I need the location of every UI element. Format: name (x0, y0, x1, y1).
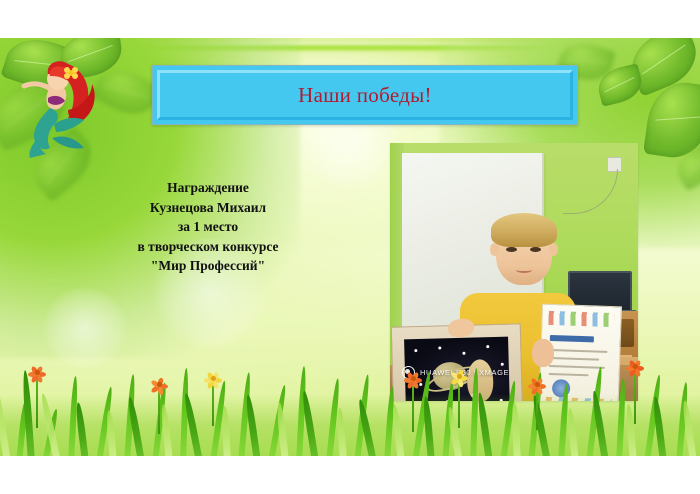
photo-boy-ear (549, 243, 558, 256)
photo-boy-hair (491, 213, 557, 247)
mermaid-character-icon (8, 46, 104, 158)
title-banner-inner: Наши победы! (157, 70, 573, 120)
caption-line: Награждение (108, 178, 308, 198)
page-title: Наши победы! (298, 83, 432, 108)
caption-line: в творческом конкурсе (108, 237, 308, 257)
photo-boy-ear (490, 243, 499, 256)
grass-border (0, 326, 700, 456)
title-banner: Наши победы! (152, 65, 578, 125)
award-caption: Награждение Кузнецова Михаил за 1 место … (108, 178, 308, 276)
caption-line: "Мир Профессий" (108, 256, 308, 276)
caption-line: Кузнецова Михаил (108, 198, 308, 218)
slide-canvas: Наши победы! Награждение Кузнецова Михаи… (0, 38, 700, 456)
photo-boy-eye (506, 247, 517, 252)
photo-certificate-header-art (548, 311, 614, 327)
photo-boy-eye (530, 247, 541, 252)
photo-boy-mouth (516, 267, 532, 273)
caption-line: за 1 место (108, 217, 308, 237)
